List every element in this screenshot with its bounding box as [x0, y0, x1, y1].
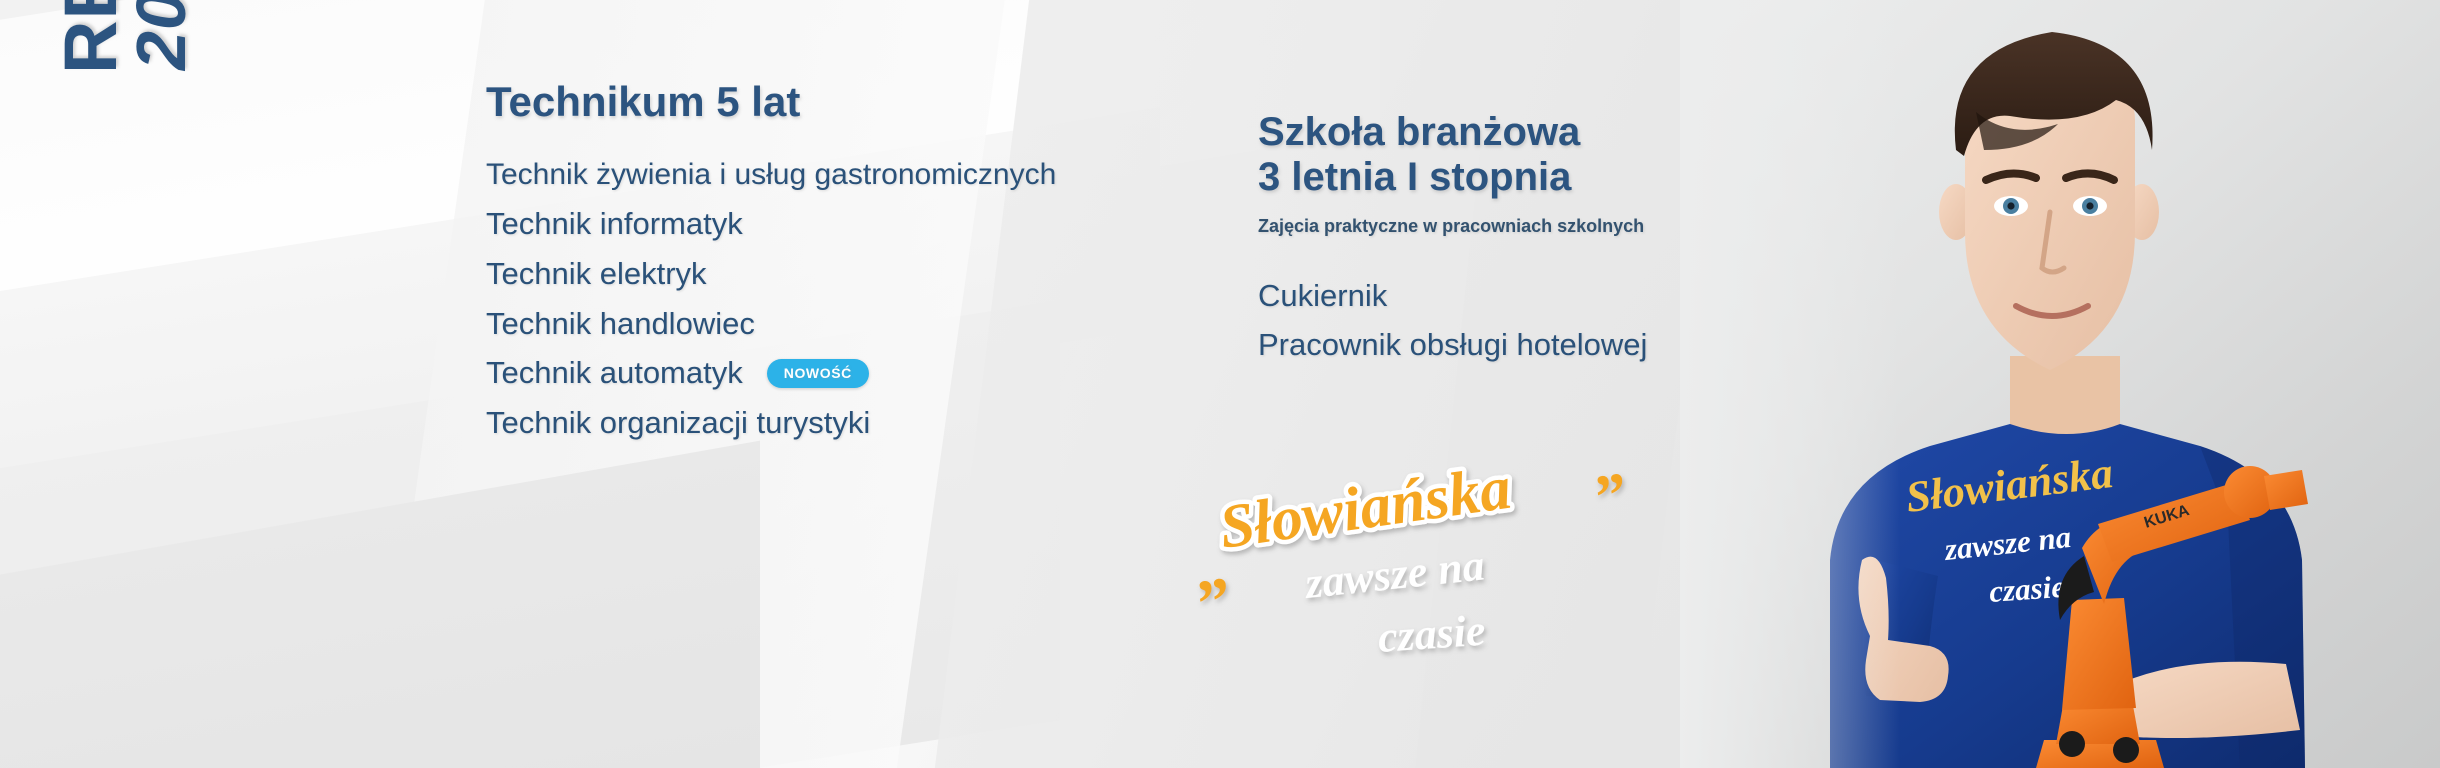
course-label: Technik organizacji turystyki: [486, 403, 870, 443]
recruitment-banner: REKRUTACJA 2026/27 Technikum 5 lat Techn…: [0, 0, 2440, 768]
course-label: Technik elektryk: [486, 254, 707, 294]
vertical-title-block: REKRUTACJA 2026/27: [0, 0, 300, 768]
course-label: Cukiernik: [1258, 276, 1387, 316]
column-technikum: Technikum 5 lat Technik żywienia i usług…: [486, 78, 1186, 448]
list-item[interactable]: Technik organizacji turystyki: [486, 398, 1186, 448]
school-logo-svg: „ Słowiańska Słowiańska ” zawsze na czas…: [1195, 470, 1665, 660]
list-item[interactable]: Technik żywienia i usług gastronomicznyc…: [486, 151, 1186, 199]
list-item[interactable]: Technik handlowiec: [486, 299, 1186, 349]
robot-bolt-b: [2113, 737, 2139, 763]
list-item[interactable]: Technik informatyk: [486, 199, 1186, 249]
logo-tagline-line2: czasie: [1376, 606, 1487, 662]
course-label: Technik żywienia i usług gastronomicznyc…: [486, 156, 1056, 194]
technikum-heading: Technikum 5 lat: [486, 78, 1186, 125]
student-photo: Słowiańska zawsze na czasie KUKA: [1680, 0, 2440, 768]
pupil-right: [2086, 202, 2093, 209]
course-label: Technik handlowiec: [486, 304, 755, 344]
vertical-title-year: 2026/27: [126, 0, 196, 70]
list-item[interactable]: Technik automatyk NOWOŚĆ: [486, 348, 1186, 398]
robot-lower-arm: [2062, 598, 2136, 710]
vertical-title-rekrutacja: REKRUTACJA: [54, 0, 128, 74]
robot-bolt-a: [2059, 731, 2085, 757]
logo-close-quote: ”: [1591, 460, 1631, 532]
tshirt-print-tagline2: czasie: [1988, 569, 2066, 609]
technikum-course-list: Technik żywienia i usług gastronomicznyc…: [486, 151, 1186, 448]
list-item[interactable]: Technik elektryk: [486, 249, 1186, 299]
robot-end-effector: [2264, 470, 2308, 510]
robot-base: [2036, 740, 2164, 768]
course-label: Technik automatyk: [486, 353, 743, 393]
neck: [2010, 356, 2120, 434]
pupil-left: [2007, 202, 2014, 209]
photo-left-fade: [1680, 0, 1900, 768]
course-label: Technik informatyk: [486, 204, 743, 244]
course-label: Pracownik obsługi hotelowej: [1258, 325, 1647, 365]
logo-tagline-line1: zawsze na: [1301, 540, 1487, 608]
school-logo[interactable]: „ Słowiańska Słowiańska ” zawsze na czas…: [1195, 470, 1665, 660]
status-badge: NOWOŚĆ: [767, 359, 869, 388]
